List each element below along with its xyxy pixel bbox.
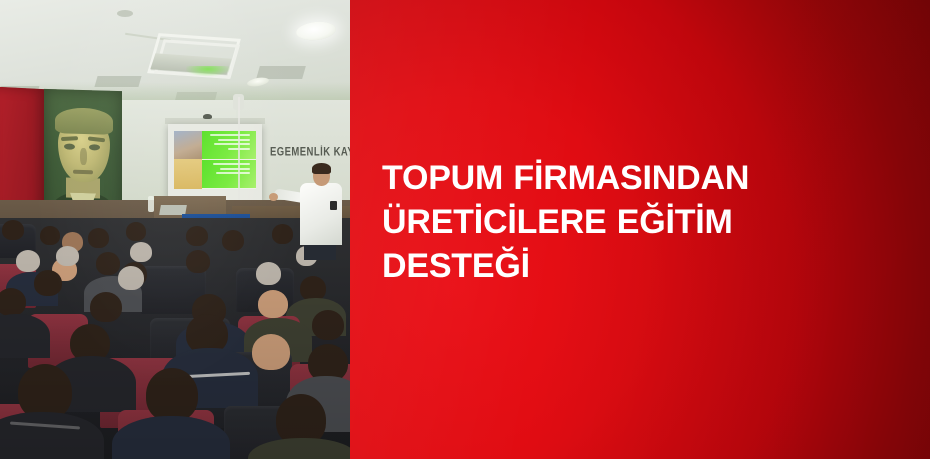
event-photo: EGEMENLİK KAYITS [0,0,350,459]
speaker-shirt [300,183,342,245]
audience-head [186,250,210,273]
headline-line-2: ÜRETİCİLERE EĞİTİM [382,200,842,244]
audience-head [88,228,109,248]
audience-head [186,226,208,246]
slide-text-column [202,131,256,189]
audience-head [312,310,344,340]
headline-line-1: TOPUM FİRMASINDAN [382,156,842,200]
wall-camera-icon [203,114,212,119]
portrait-eye [89,144,100,150]
audience-head [16,250,40,272]
page-title: TOPUM FİRMASINDAN ÜRETİCİLERE EĞİTİM DES… [382,156,842,288]
speaker-badge [330,201,337,210]
speaker-hair [312,163,331,174]
audience-shoulders [0,412,104,459]
audience-area [0,218,350,459]
wall-slogan-text: EGEMENLİK KAYITS [270,146,350,159]
news-thumbnail-card: EGEMENLİK KAYITS [0,0,930,459]
audience-head [0,288,26,316]
portrait-eye [64,143,75,149]
headline-panel: TOPUM FİRMASINDAN ÜRETİCİLERE EĞİTİM DES… [350,0,930,459]
audience-head [258,290,288,318]
audience-head [90,292,122,322]
speaker-hand [269,193,278,201]
audience-head [272,224,293,244]
audience-head [40,226,60,245]
ceiling-light-small [246,76,269,88]
audience-head [118,266,144,290]
portrait-mouth [73,170,93,175]
round-ceiling-light [295,20,337,42]
audience-head [126,222,146,241]
audience-head [252,334,290,370]
water-bottle [148,196,154,212]
slide-photo-column [174,131,202,189]
portrait-nose [80,148,87,165]
projector-beam-glow [186,66,230,76]
smoke-detector-icon [117,10,133,17]
slide-text-block [202,160,256,189]
audience-head [56,246,79,266]
audience-head [256,262,281,285]
headline-line-3: DESTEĞİ [382,244,842,288]
audience-head [222,230,244,251]
projection-screen [168,124,262,202]
audience-head [130,242,152,262]
audience-head [34,270,62,296]
portrait-hair [55,107,113,135]
audience-shoulders [0,314,50,358]
audience-head [146,368,198,422]
audience-head [96,252,120,275]
slide-text-block [202,131,256,160]
presentation-slide [174,131,256,189]
ceiling-vent-icon [94,76,141,87]
audience-head [2,220,24,240]
